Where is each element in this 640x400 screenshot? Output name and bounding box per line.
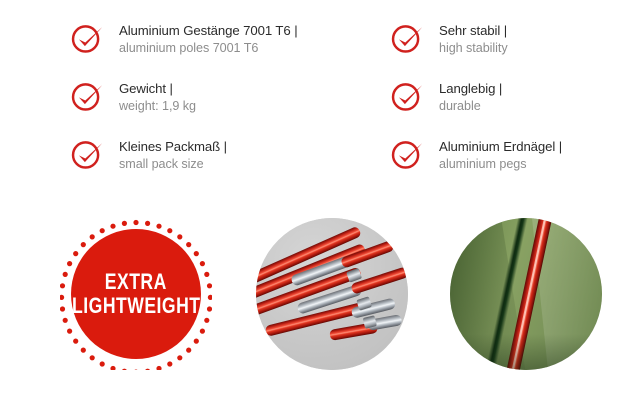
feature-subtitle: small pack size	[119, 158, 227, 171]
feature-text: Gewicht | weight: 1,9 kg	[119, 80, 196, 113]
check-circle-icon	[388, 135, 426, 173]
feature-subtitle: durable	[439, 100, 502, 113]
badge-disc: EXTRA LIGHTWEIGHT	[71, 229, 201, 359]
feature-item-small-pack-size: Kleines Packmaß | small pack size	[68, 138, 368, 196]
feature-item-high-stability: Sehr stabil | high stability	[388, 22, 640, 80]
feature-title: Aluminium Erdnägel |	[439, 140, 562, 153]
feature-item-weight: Gewicht | weight: 1,9 kg	[68, 80, 368, 138]
feature-title: Kleines Packmaß |	[119, 140, 227, 153]
check-circle-icon	[68, 19, 106, 57]
check-circle-icon	[68, 77, 106, 115]
feature-text: Langlebig | durable	[439, 80, 502, 113]
badge-line-2: LIGHTWEIGHT	[72, 294, 200, 318]
extra-lightweight-badge: EXTRA LIGHTWEIGHT	[60, 218, 212, 370]
feature-text: Kleines Packmaß | small pack size	[119, 138, 227, 171]
feature-item-aluminium-poles: Aluminium Gestänge 7001 T6 | aluminium p…	[68, 22, 368, 80]
tent-pole-detail-photo	[450, 218, 602, 370]
feature-title: Aluminium Gestänge 7001 T6 |	[119, 24, 298, 37]
feature-title: Gewicht |	[119, 82, 196, 95]
feature-subtitle: aluminium poles 7001 T6	[119, 42, 298, 55]
feature-subtitle: aluminium pegs	[439, 158, 562, 171]
feature-list: Aluminium Gestänge 7001 T6 | aluminium p…	[0, 0, 640, 200]
feature-item-aluminium-pegs: Aluminium Erdnägel | aluminium pegs	[388, 138, 640, 196]
feature-title: Sehr stabil |	[439, 24, 508, 37]
feature-subtitle: weight: 1,9 kg	[119, 100, 196, 113]
fabric-bottom-shadow	[450, 334, 602, 370]
check-circle-icon	[388, 77, 426, 115]
feature-text: Sehr stabil | high stability	[439, 22, 508, 55]
aluminium-poles-photo	[256, 218, 408, 370]
feature-subtitle: high stability	[439, 42, 508, 55]
check-circle-icon	[68, 135, 106, 173]
check-circle-icon	[388, 19, 426, 57]
feature-title: Langlebig |	[439, 82, 502, 95]
badge-line-1: EXTRA	[105, 270, 167, 294]
feature-item-durable: Langlebig | durable	[388, 80, 640, 138]
feature-text: Aluminium Erdnägel | aluminium pegs	[439, 138, 562, 171]
media-row: EXTRA LIGHTWEIGHT	[0, 200, 640, 400]
feature-text: Aluminium Gestänge 7001 T6 | aluminium p…	[119, 22, 298, 55]
